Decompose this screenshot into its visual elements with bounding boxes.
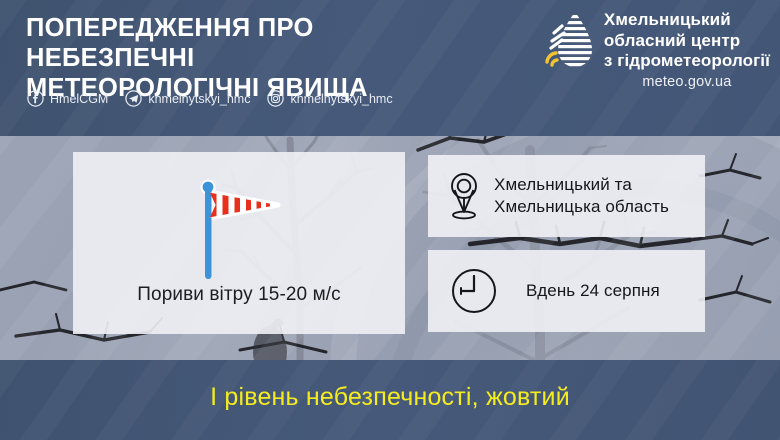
footer-band: І рівень небезпечності, жовтий	[0, 360, 780, 440]
location-panel: Хмельницький та Хмельницька область	[428, 155, 705, 237]
social-link-facebook[interactable]: HmelCGM	[27, 90, 108, 107]
organization-logo: Хмельницький обласний центр з гідрометео…	[542, 10, 770, 90]
header-band: ПОПЕРЕДЖЕННЯ ПРО НЕБЕЗПЕЧНІ МЕТЕОРОЛОГІЧ…	[0, 0, 780, 136]
clock-icon	[450, 267, 498, 315]
weather-warning-poster: ПОПЕРЕДЖЕННЯ ПРО НЕБЕЗПЕЧНІ МЕТЕОРОЛОГІЧ…	[0, 0, 780, 440]
telegram-icon	[125, 90, 142, 107]
warning-level-label: І рівень небезпечності, жовтий	[0, 383, 780, 412]
location-text: Хмельницький та Хмельницька область	[494, 174, 669, 218]
date-panel: Вдень 24 серпня	[428, 250, 705, 332]
facebook-icon	[27, 90, 44, 107]
facebook-handle: HmelCGM	[50, 92, 108, 106]
telegram-handle: khmelnytskyi_hmc	[148, 92, 250, 106]
map-pin-icon	[446, 171, 482, 221]
date-text: Вдень 24 серпня	[512, 280, 660, 302]
social-links: HmelCGM khmelnytskyi_hmc khmelnytskyi_hm…	[27, 90, 403, 107]
organization-website: meteo.gov.ua	[604, 72, 770, 90]
instagram-icon	[267, 90, 284, 107]
windsock-icon	[194, 174, 286, 282]
instagram-handle: khmelnytskyi_hmc	[290, 92, 392, 106]
hazard-panel: Пориви вітру 15-20 м/с	[73, 152, 405, 334]
social-link-instagram[interactable]: khmelnytskyi_hmc	[267, 90, 392, 107]
water-droplet-logo-icon	[542, 10, 594, 76]
social-link-telegram[interactable]: khmelnytskyi_hmc	[125, 90, 250, 107]
hazard-label: Пориви вітру 15-20 м/с	[73, 284, 405, 306]
organization-name: Хмельницький обласний центр з гідрометео…	[604, 10, 770, 72]
